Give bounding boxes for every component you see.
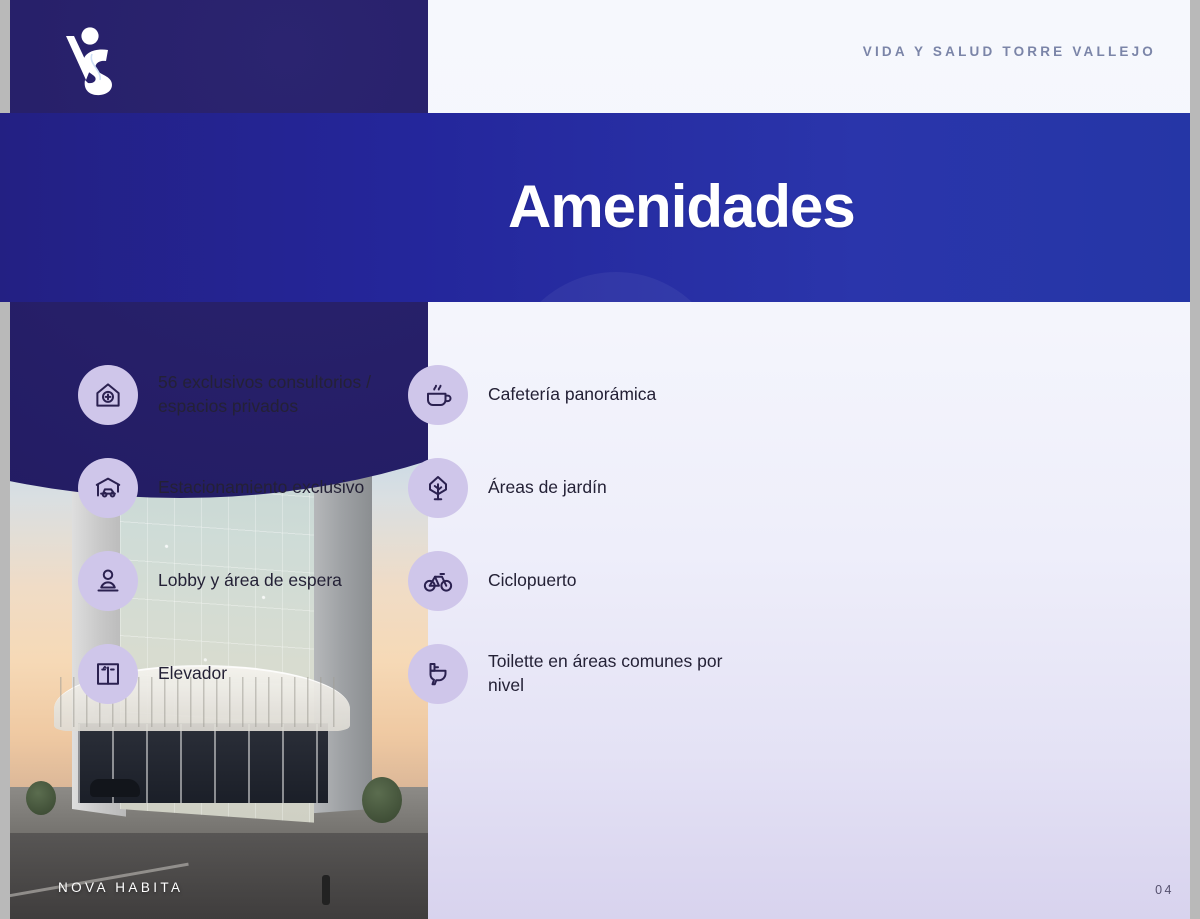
brand-name: NOVA HABITA xyxy=(58,880,183,895)
page-number: 04 xyxy=(1155,883,1174,897)
reception-person-icon xyxy=(78,551,138,611)
coffee-cup-icon xyxy=(408,365,468,425)
elevator-icon xyxy=(78,644,138,704)
amenity-item-estacionamiento[interactable]: Estacionamiento exclusivo xyxy=(78,458,408,518)
tree-right xyxy=(362,777,402,823)
amenity-item-jardin[interactable]: Áreas de jardín xyxy=(408,458,738,518)
tree-icon xyxy=(408,458,468,518)
amenities-grid: 56 exclusivos consultorios / espacios pr… xyxy=(78,365,738,704)
amenity-label: Lobby y área de espera xyxy=(158,569,342,593)
bicycle-icon xyxy=(408,551,468,611)
amenity-label: Áreas de jardín xyxy=(488,476,607,500)
car-garage-icon xyxy=(78,458,138,518)
project-eyebrow: VIDA Y SALUD TORRE VALLEJO xyxy=(863,44,1156,59)
page-title: Amenidades xyxy=(508,172,855,241)
amenity-label: Elevador xyxy=(158,662,227,686)
toilet-icon xyxy=(408,644,468,704)
amenity-item-lobby[interactable]: Lobby y área de espera xyxy=(78,551,408,611)
amenity-item-cafeteria[interactable]: Cafetería panorámica xyxy=(408,365,738,425)
amenity-label: Cafetería panorámica xyxy=(488,383,656,407)
pedestrian-figure xyxy=(322,875,330,905)
amenity-label: Toilette en áreas comunes por nivel xyxy=(488,650,723,698)
parked-car xyxy=(90,779,140,797)
amenity-label: Estacionamiento exclusivo xyxy=(158,476,364,500)
clinic-house-icon xyxy=(78,365,138,425)
lobby-entrance xyxy=(78,723,328,803)
amenity-label: 56 exclusivos consultorios / espacios pr… xyxy=(158,371,393,419)
vs-logo-icon xyxy=(56,24,126,98)
amenity-item-elevador[interactable]: Elevador xyxy=(78,644,408,704)
amenity-label: Ciclopuerto xyxy=(488,569,577,593)
amenity-item-consultorios[interactable]: 56 exclusivos consultorios / espacios pr… xyxy=(78,365,408,425)
tree-left xyxy=(26,781,56,815)
amenity-item-toilette[interactable]: Toilette en áreas comunes por nivel xyxy=(408,644,738,704)
presentation-slide: NOVA HABITA VIDA Y SALUD TORRE VALLEJO A… xyxy=(0,0,1200,919)
amenity-item-ciclopuerto[interactable]: Ciclopuerto xyxy=(408,551,738,611)
